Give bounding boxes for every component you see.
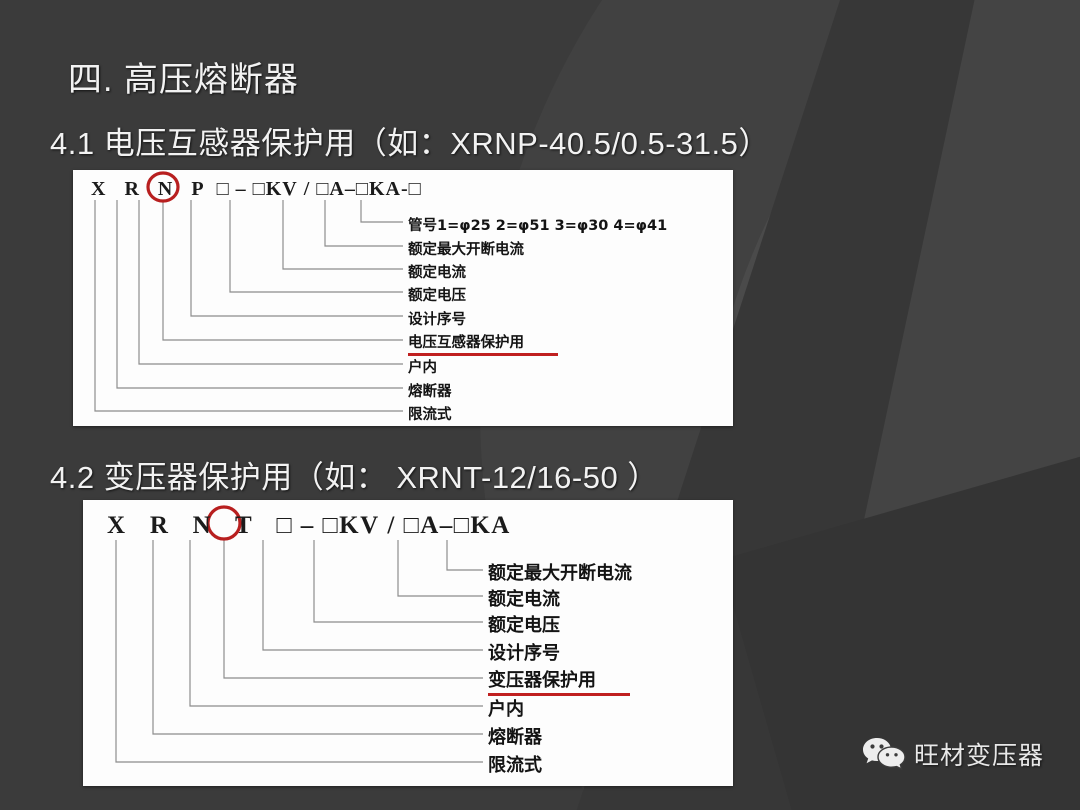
section-heading-4-2: 4.2 变压器保护用（如： XRNT-12/16-50 ） <box>50 452 659 497</box>
label-transformer-protection: 变压器保护用 <box>488 666 630 696</box>
label-current-limiting: 限流式 <box>408 403 452 424</box>
code-char-x: X <box>107 512 127 539</box>
label-max-breaking: 额定最大开断电流 <box>408 238 524 259</box>
label-rated-voltage: 额定电压 <box>408 284 466 305</box>
label-fuse: 熔断器 <box>488 723 542 749</box>
designation-diagram-xrnt: X R N T □ – □KV / □A–□KA 额定最大开断电流 额定电流 额… <box>83 500 733 786</box>
code-char-x: X <box>91 178 106 200</box>
label-indoor: 户内 <box>408 356 437 377</box>
type-designation-code-2: X R N T □ – □KV / □A–□KA <box>107 512 511 540</box>
section-heading-4-1: 4.1 电压互感器保护用（如：XRNP-40.5/0.5-31.5） <box>50 118 770 163</box>
label-current-limiting: 限流式 <box>488 751 542 777</box>
label-indoor: 户内 <box>488 695 524 721</box>
code-box-design: □ <box>276 512 293 539</box>
code-char-n: N <box>158 178 173 200</box>
code-box-breaking: □KA <box>454 512 511 539</box>
code-box-design: □ <box>217 178 230 200</box>
label-design-serial: 设计序号 <box>488 639 560 665</box>
code-box-tube: □ <box>409 178 422 200</box>
watermark: 旺材变压器 <box>862 736 1044 772</box>
code-char-r: R <box>124 178 139 200</box>
label-rated-current: 额定电流 <box>488 585 560 611</box>
leader-lines-panel-2 <box>83 500 733 786</box>
code-box-current: □A <box>316 178 345 200</box>
code-box-current: □A <box>404 512 440 539</box>
code-char-r: R <box>150 512 170 539</box>
watermark-text: 旺材变压器 <box>914 736 1044 772</box>
code-box-voltage: □KV <box>323 512 380 539</box>
type-designation-code-1: X R N P □ – □KV / □A–□KA-□ <box>91 178 422 201</box>
code-char-n: N <box>193 512 213 539</box>
designation-diagram-xrnp: X R N P □ – □KV / □A–□KA-□ 管号1=φ25 2=φ51… <box>73 170 733 426</box>
label-tube-number: 管号1=φ25 2=φ51 3=φ30 4=φ41 <box>408 214 667 235</box>
label-rated-voltage: 额定电压 <box>488 611 560 637</box>
wechat-icon <box>862 736 906 772</box>
label-rated-current: 额定电流 <box>408 261 466 282</box>
code-char-p: P <box>191 178 204 200</box>
label-design-serial: 设计序号 <box>408 308 466 329</box>
leader-lines-panel-1 <box>73 170 733 426</box>
label-fuse: 熔断器 <box>408 380 452 401</box>
code-char-t: T <box>235 512 253 539</box>
code-box-breaking: □KA <box>356 178 401 200</box>
page-title: 四. 高压熔断器 <box>68 52 299 101</box>
label-max-breaking: 额定最大开断电流 <box>488 559 632 585</box>
code-box-voltage: □KV <box>253 178 298 200</box>
label-pt-protection: 电压互感器保护用 <box>408 331 558 356</box>
